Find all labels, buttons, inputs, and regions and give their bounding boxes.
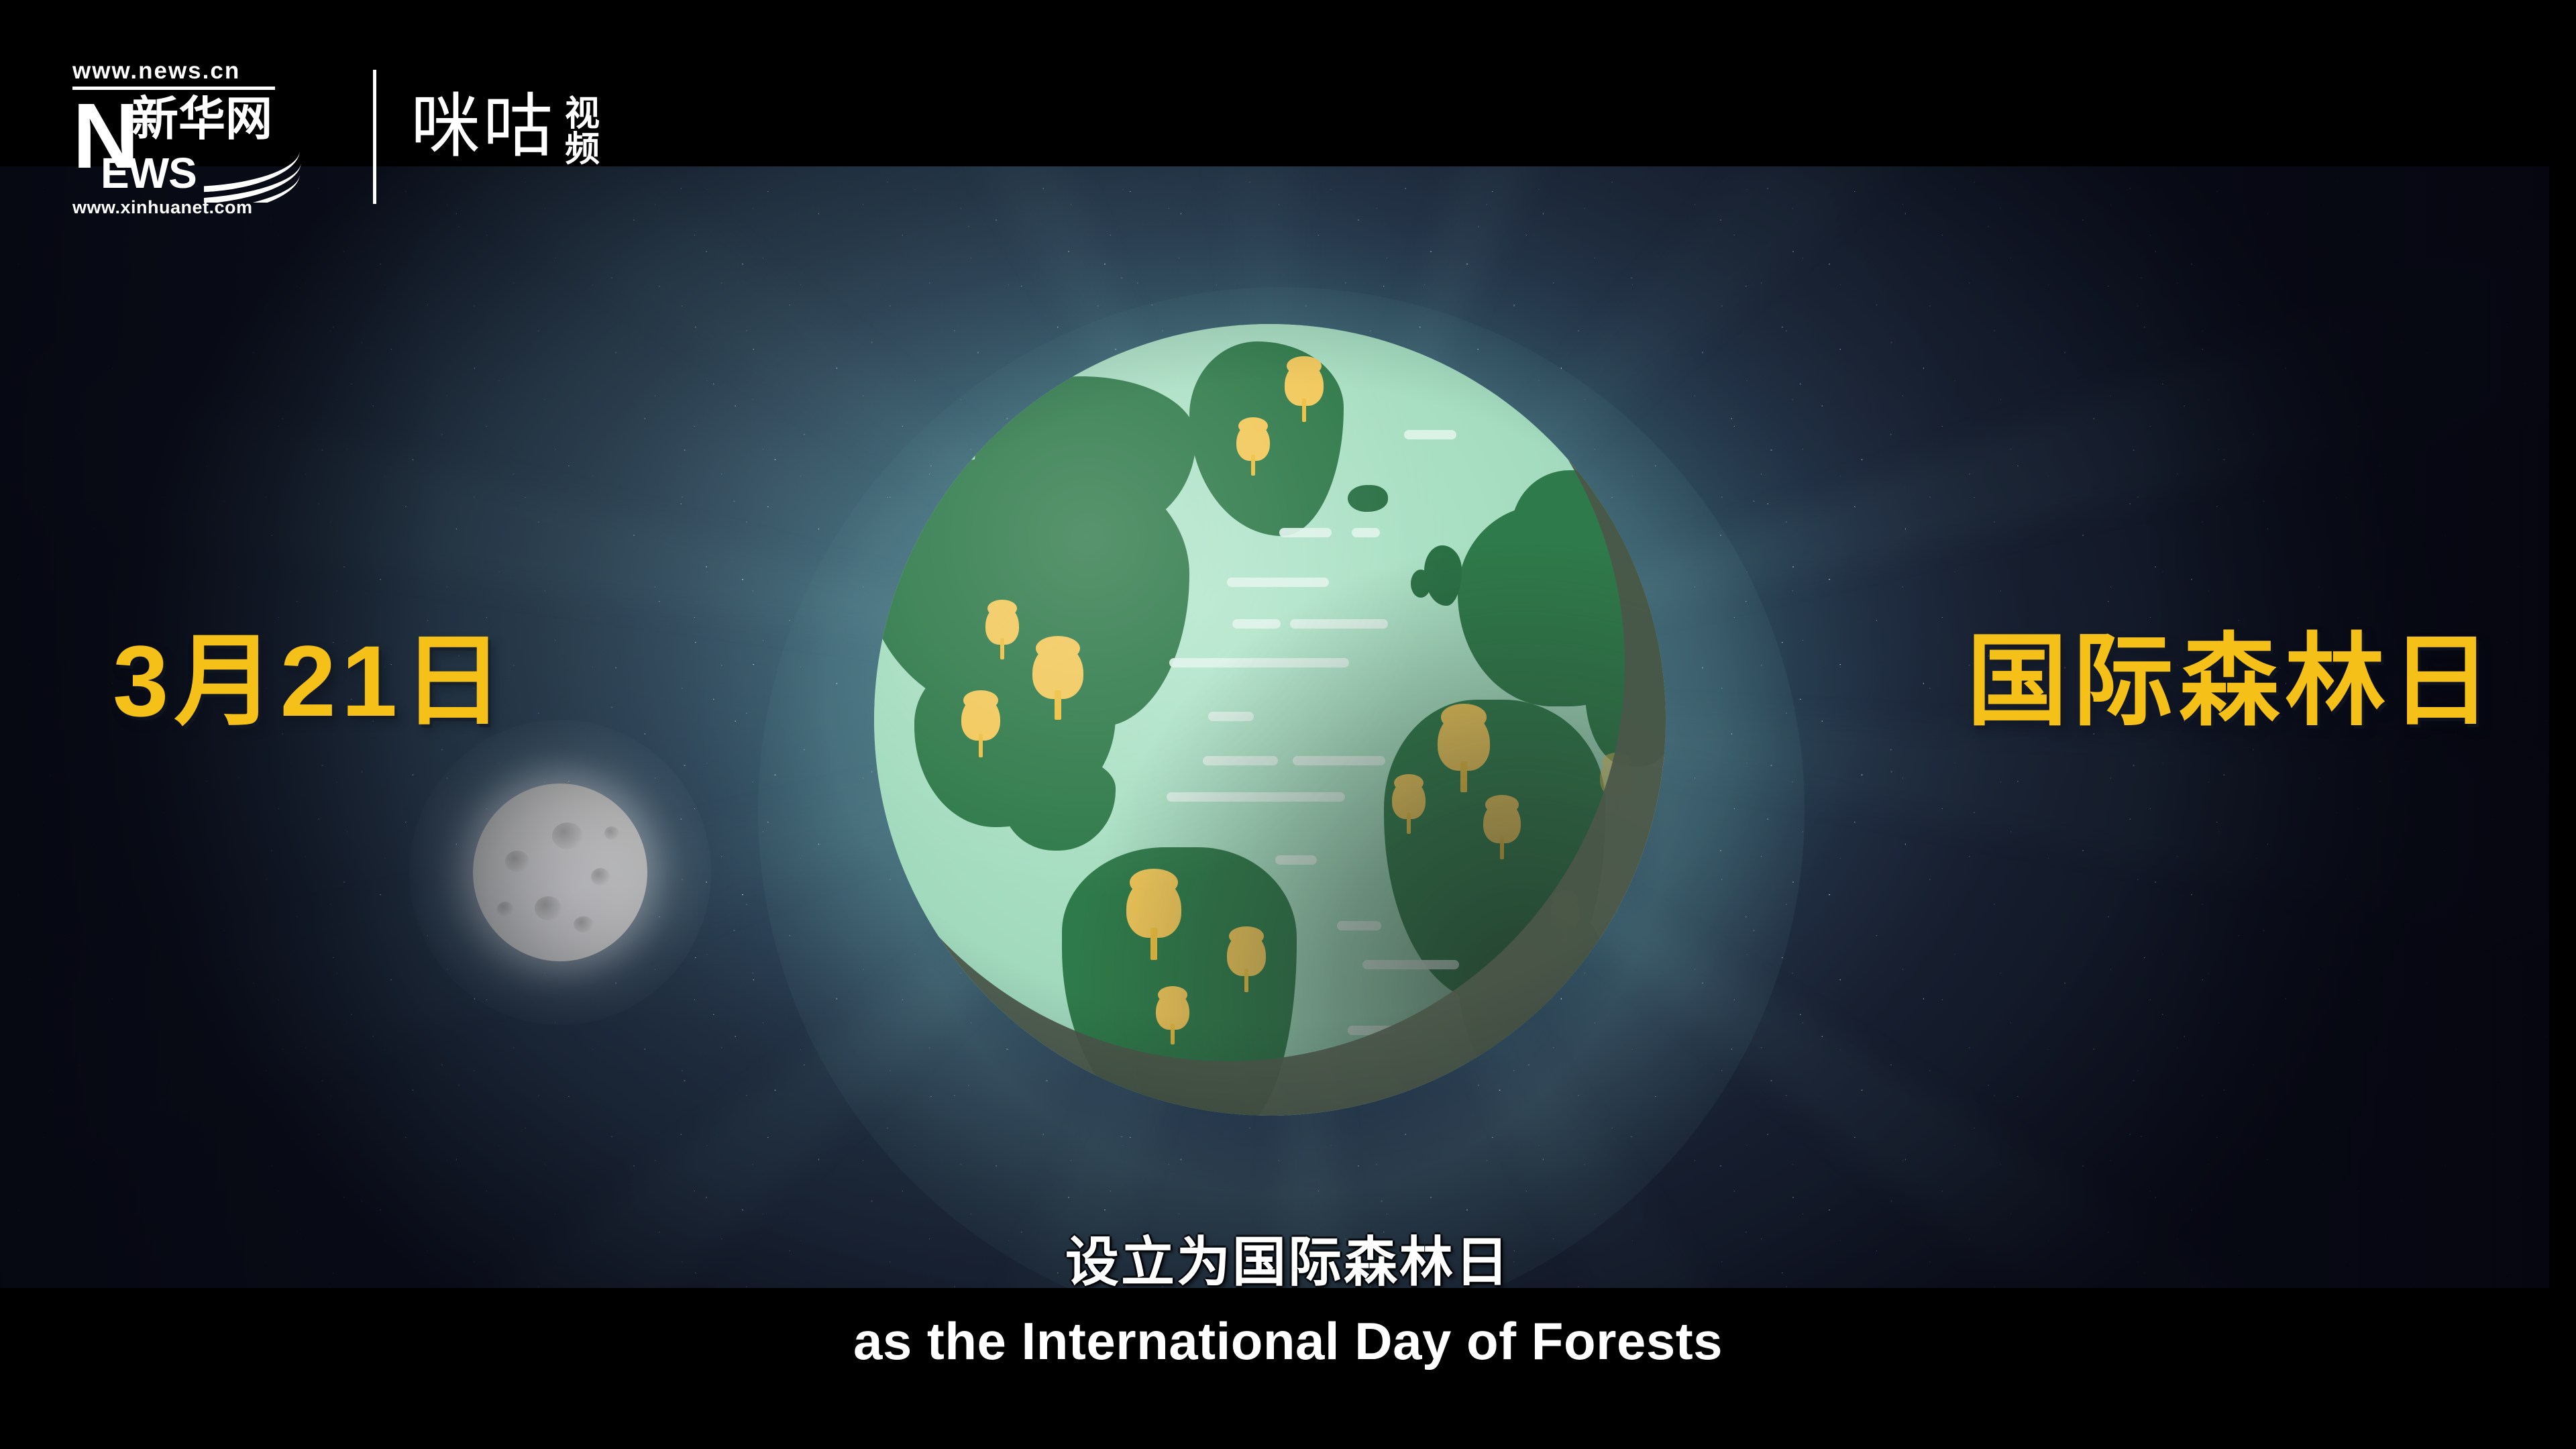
xinhua-logo-mark: N 新华网 EWS	[72, 93, 282, 193]
migu-video-label: 视 频	[565, 97, 600, 168]
xinhua-name-cn: 新华网	[131, 95, 272, 142]
video-frame: www.news.cn N 新华网 EWS www.xinhuanet.com …	[0, 0, 2576, 1449]
moon-sphere	[473, 784, 647, 961]
logo-divider	[373, 70, 376, 204]
letterbox-top	[0, 0, 2576, 166]
tree-icon	[1483, 802, 1521, 858]
ocean-wave-dash	[1167, 792, 1345, 802]
migu-logo[interactable]: 咪咕 视 频	[411, 94, 600, 168]
ocean-wave-dash	[1279, 528, 1332, 537]
ocean-wave-dash	[1208, 712, 1254, 721]
migu-video-char-2: 频	[565, 132, 600, 168]
moon	[473, 784, 647, 961]
ocean-wave-dash	[1352, 528, 1380, 537]
ocean-wave-dash	[1203, 756, 1278, 765]
ocean-wave-dash	[1290, 619, 1388, 629]
ocean-wave-dash	[1169, 658, 1349, 667]
tree-icon	[1236, 423, 1270, 474]
tree-icon	[1227, 933, 1266, 991]
tree-icon	[1126, 878, 1181, 959]
subtitle-english: as the International Day of Forests	[0, 1315, 2576, 1367]
headline-date: 3月21日	[113, 631, 508, 731]
tree-icon	[1392, 780, 1426, 833]
migu-video-char-1: 视	[565, 97, 600, 132]
tree-icon	[961, 697, 1000, 756]
tree-icon	[1438, 713, 1490, 791]
ocean-wave-dash	[1275, 855, 1317, 865]
migu-name: 咪咕	[411, 94, 555, 160]
landmass-africa-south	[1458, 901, 1605, 1095]
tree-icon	[985, 606, 1019, 658]
ocean-wave-dash	[1227, 578, 1329, 587]
tree-icon	[1550, 896, 1580, 941]
tree-icon	[1285, 363, 1324, 421]
moon-glow	[409, 720, 711, 1025]
xinhua-word-news: EWS	[101, 152, 197, 195]
landmass-iceland	[1348, 485, 1388, 512]
earth-globe	[874, 324, 1666, 1116]
landmass-ireland	[1411, 570, 1431, 598]
tree-icon	[1600, 759, 1633, 810]
subtitle-chinese: 设立为国际森林日	[0, 1236, 2576, 1289]
ocean-wave-dash	[1232, 619, 1281, 629]
tree-icon	[1156, 992, 1189, 1043]
letterbox-right	[2549, 0, 2576, 1449]
ocean-wave-dash	[1404, 430, 1456, 439]
ocean-wave-dash	[1293, 756, 1385, 765]
tree-icon	[1032, 645, 1083, 718]
ocean-wave-dash	[1348, 1026, 1396, 1035]
xinhua-swoosh-icon	[204, 150, 305, 203]
headline-title: 国际森林日	[1967, 631, 2497, 731]
landmass-scandinavia	[1511, 470, 1646, 591]
xinhua-logo[interactable]: www.news.cn N 新华网 EWS www.xinhuanet.com	[72, 59, 282, 218]
ocean-wave-dash	[1362, 960, 1459, 969]
ocean-wave-dash	[1337, 921, 1381, 930]
